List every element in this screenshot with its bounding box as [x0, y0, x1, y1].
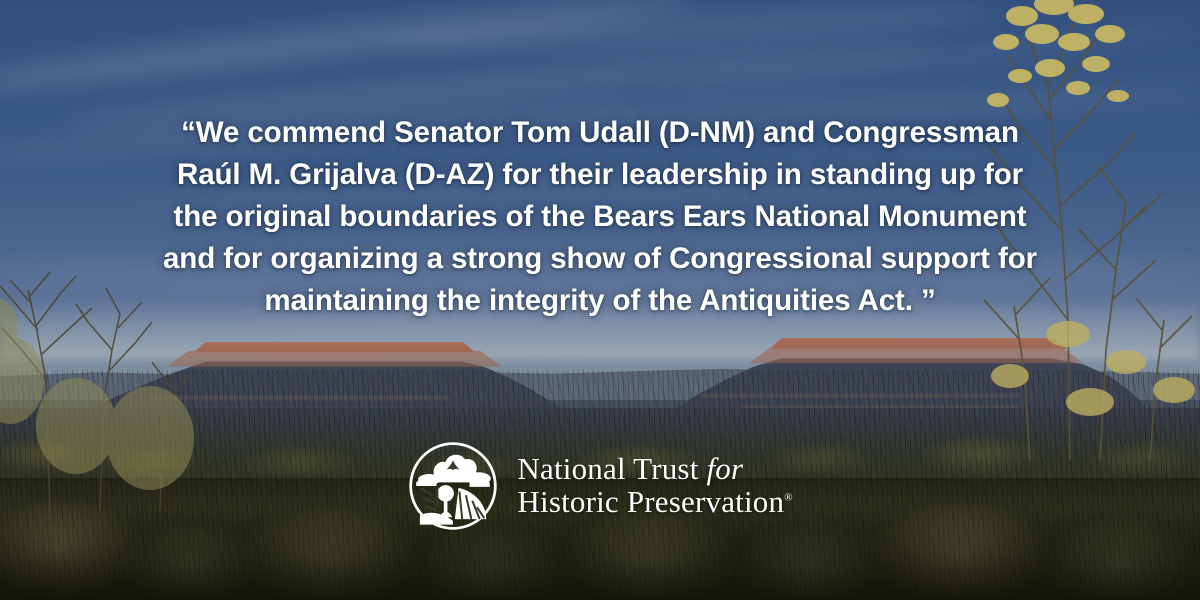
quote-text: “We commend Senator Tom Udall (D-NM) and… [0, 112, 1200, 322]
quote-line: maintaining the integrity of the Antiqui… [120, 280, 1080, 322]
logo-wordmark: National Trust for Historic Preservation… [517, 453, 792, 519]
organization-logo: National Trust for Historic Preservation… [0, 440, 1200, 532]
logo-for: for [706, 451, 743, 486]
logo-line-2: Historic Preservation® [517, 486, 792, 519]
quote-line: and for organizing a strong show of Cong… [120, 238, 1080, 280]
quote-line: the original boundaries of the Bears Ear… [120, 196, 1080, 238]
quote-line: Raúl M. Grijalva (D-AZ) for their leader… [120, 154, 1080, 196]
logo-line-1: National Trust for [517, 453, 792, 486]
national-trust-emblem-icon [407, 440, 499, 532]
registered-trademark-icon: ® [784, 492, 792, 504]
logo-national-trust: National Trust [517, 451, 706, 486]
quote-line: “We commend Senator Tom Udall (D-NM) and… [120, 112, 1080, 154]
social-graphic-card: “We commend Senator Tom Udall (D-NM) and… [0, 0, 1200, 600]
logo-historic-preservation: Historic Preservation [517, 484, 784, 519]
